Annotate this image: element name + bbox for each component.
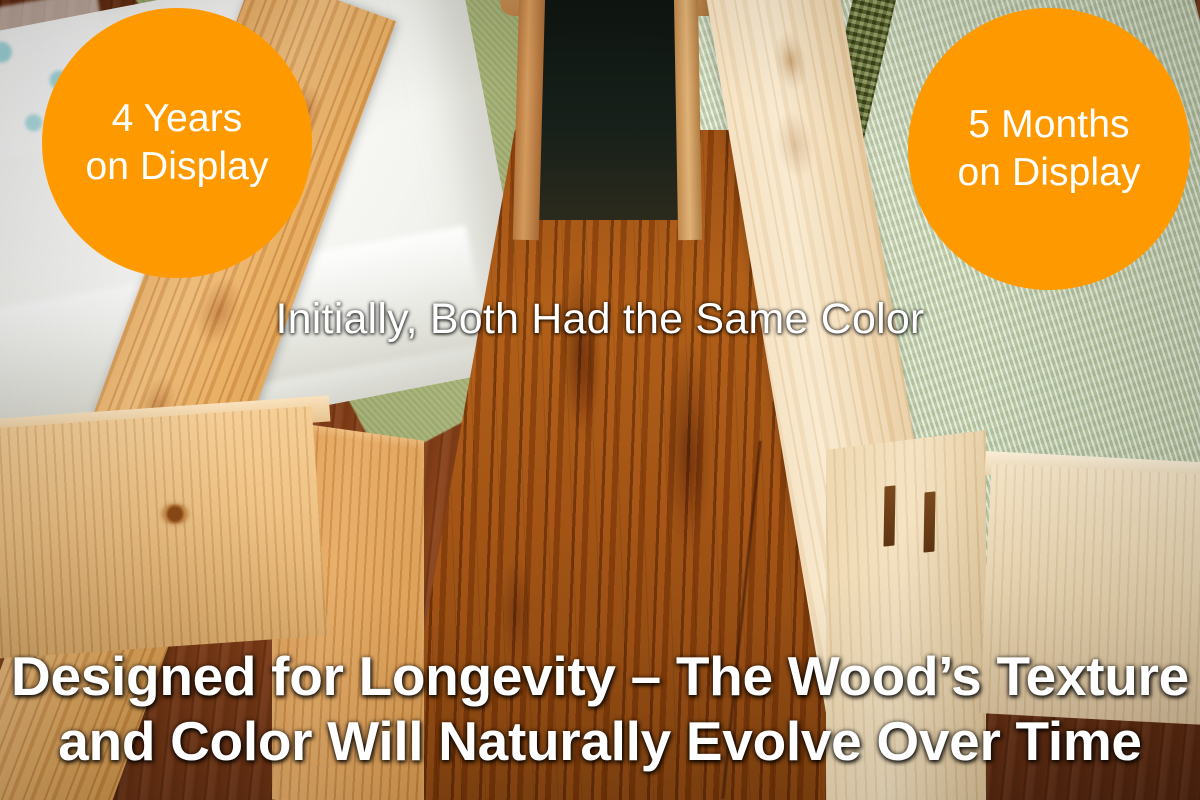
five-months-badge-line1: 5 Months — [968, 101, 1129, 149]
wedge-joint-icon — [923, 491, 935, 552]
footboard-panel-left — [0, 406, 328, 660]
headline-line2: and Color Will Naturally Evolve Over Tim… — [0, 709, 1200, 774]
headline: Designed for Longevity – The Wood’s Text… — [0, 644, 1200, 774]
wedge-joint-icon — [883, 485, 895, 546]
headboard-leg-right — [674, 0, 702, 240]
five-months-badge: 5 Months on Display — [908, 8, 1190, 290]
headline-line1: Designed for Longevity – The Wood’s Text… — [0, 644, 1200, 709]
middle-caption: Initially, Both Had the Same Color — [0, 295, 1200, 344]
five-months-badge-line2: on Display — [957, 149, 1140, 197]
four-years-badge-line1: 4 Years — [112, 95, 243, 143]
four-years-badge: 4 Years on Display — [42, 8, 312, 278]
wood-knot-icon — [162, 504, 188, 524]
four-years-badge-line2: on Display — [85, 143, 268, 191]
dark-recess-opening — [528, 0, 690, 220]
image-canvas: 4 Years on Display 5 Months on Display I… — [0, 0, 1200, 800]
